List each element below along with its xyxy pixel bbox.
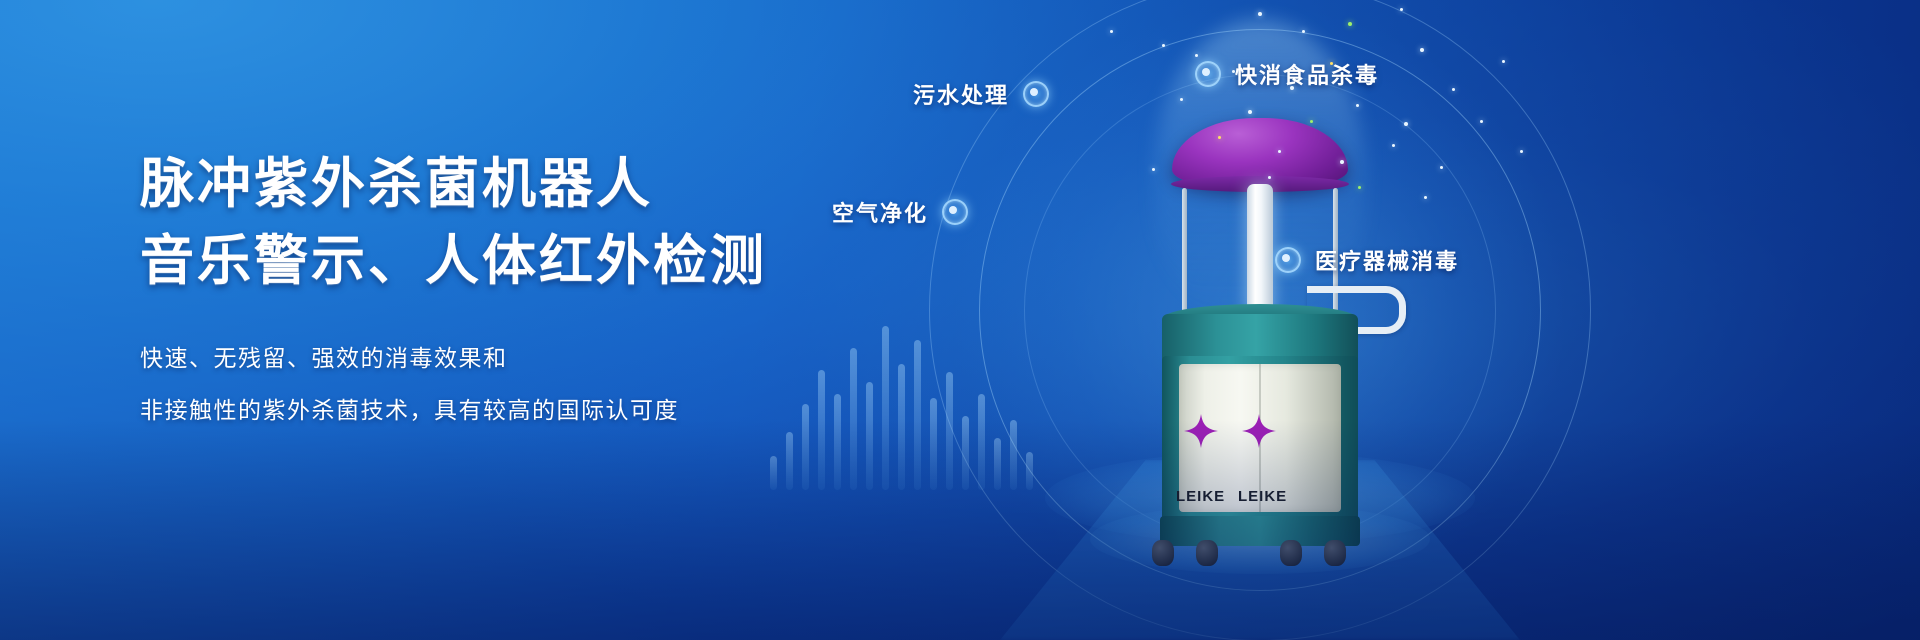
ring-node-icon	[942, 199, 968, 225]
four-point-star-icon	[1184, 414, 1218, 448]
headline-line-1: 脉冲紫外杀菌机器人	[140, 150, 900, 219]
callout-waste-water-treatment[interactable]: 污水处理	[913, 78, 1049, 110]
callout-fmcg-food-sterilization[interactable]: 快消食品杀毒	[1195, 58, 1379, 90]
waveform-bar	[850, 348, 857, 490]
callout-air-purification[interactable]: 空气净化	[832, 196, 968, 228]
ring-node-icon	[1275, 247, 1301, 273]
headline-line-2: 音乐警示、人体红外检测	[140, 227, 900, 296]
brand-label-left: LEIKE	[1176, 488, 1225, 505]
callout-label: 空气净化	[832, 196, 928, 228]
robot-shoulder	[1162, 314, 1358, 362]
caster-wheel-icon	[1196, 540, 1218, 566]
waveform-bar	[882, 326, 889, 490]
uv-disinfection-robot: LEIKE LEIKE	[1130, 118, 1390, 548]
waveform-bar	[866, 382, 873, 490]
waveform-bar	[786, 432, 793, 490]
callout-medical-device-disinfection[interactable]: 医疗器械消毒	[1275, 244, 1459, 276]
caster-wheel-icon	[1152, 540, 1174, 566]
waveform-bar	[770, 456, 777, 490]
callout-label: 污水处理	[913, 78, 1009, 110]
waveform-bar	[802, 404, 809, 490]
four-point-star-icon	[1242, 414, 1276, 448]
uv-lamp-tube	[1247, 184, 1273, 316]
callout-label: 医疗器械消毒	[1315, 244, 1459, 276]
lamp-strut-left	[1182, 188, 1187, 316]
waveform-bar	[818, 370, 825, 490]
caster-wheel-icon	[1324, 540, 1346, 566]
ring-node-icon	[1195, 61, 1221, 87]
brand-label-right: LEIKE	[1238, 488, 1287, 505]
callout-label: 快消食品杀毒	[1235, 58, 1379, 90]
promo-banner: 脉冲紫外杀菌机器人 音乐警示、人体红外检测 快速、无残留、强效的消毒效果和 非接…	[0, 0, 1920, 640]
waveform-bar	[834, 394, 841, 490]
caster-wheel-icon	[1280, 540, 1302, 566]
ring-node-icon	[1023, 81, 1049, 107]
